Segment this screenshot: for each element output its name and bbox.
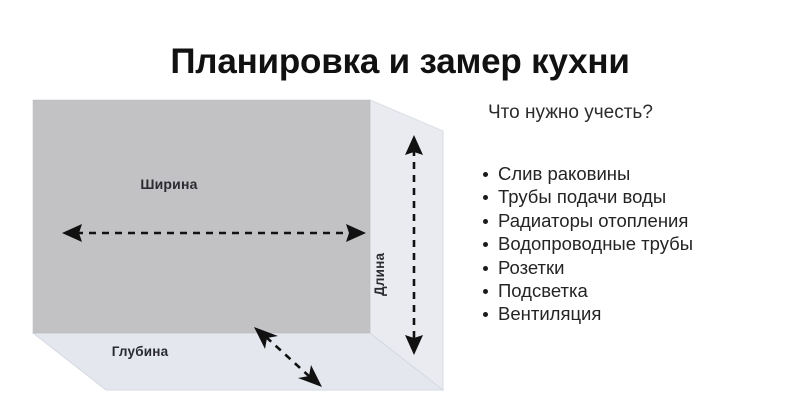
bullet-icon [483,266,488,271]
bullet-icon [483,242,488,247]
page-title: Планировка и замер кухни [0,40,800,84]
info-question: Что нужно учесть? [466,100,796,126]
list-item-label: Водопроводные трубы [498,233,693,254]
label-width: Ширина [0,176,338,192]
bullet-icon [483,289,488,294]
label-length: Длина [372,253,387,296]
considerations-list: Слив раковины Трубы подачи воды Радиатор… [466,162,796,326]
kitchen-box-diagram: Ширина Длина Глубина [0,86,470,406]
list-item-label: Трубы подачи воды [498,186,666,207]
slide-canvas: Планировка и замер кухни [0,0,800,420]
bullet-icon [483,172,488,177]
list-item: Подсветка [466,279,796,302]
list-item: Слив раковины [466,162,796,185]
list-item-label: Вентиляция [498,303,601,324]
bullet-icon [483,195,488,200]
list-item: Водопроводные трубы [466,232,796,255]
bullet-icon [483,312,488,317]
list-item-label: Слив раковины [498,163,630,184]
box-front-face [33,100,370,333]
list-item: Вентиляция [466,302,796,325]
list-item: Трубы подачи воды [466,185,796,208]
list-item-label: Подсветка [498,280,588,301]
list-item-label: Радиаторы отопления [498,210,688,231]
list-item: Радиаторы отопления [466,209,796,232]
list-item-label: Розетки [498,257,564,278]
list-item: Розетки [466,256,796,279]
bullet-icon [483,219,488,224]
label-depth: Глубина [0,344,280,359]
info-panel: Что нужно учесть? Слив раковины Трубы по… [466,100,796,326]
